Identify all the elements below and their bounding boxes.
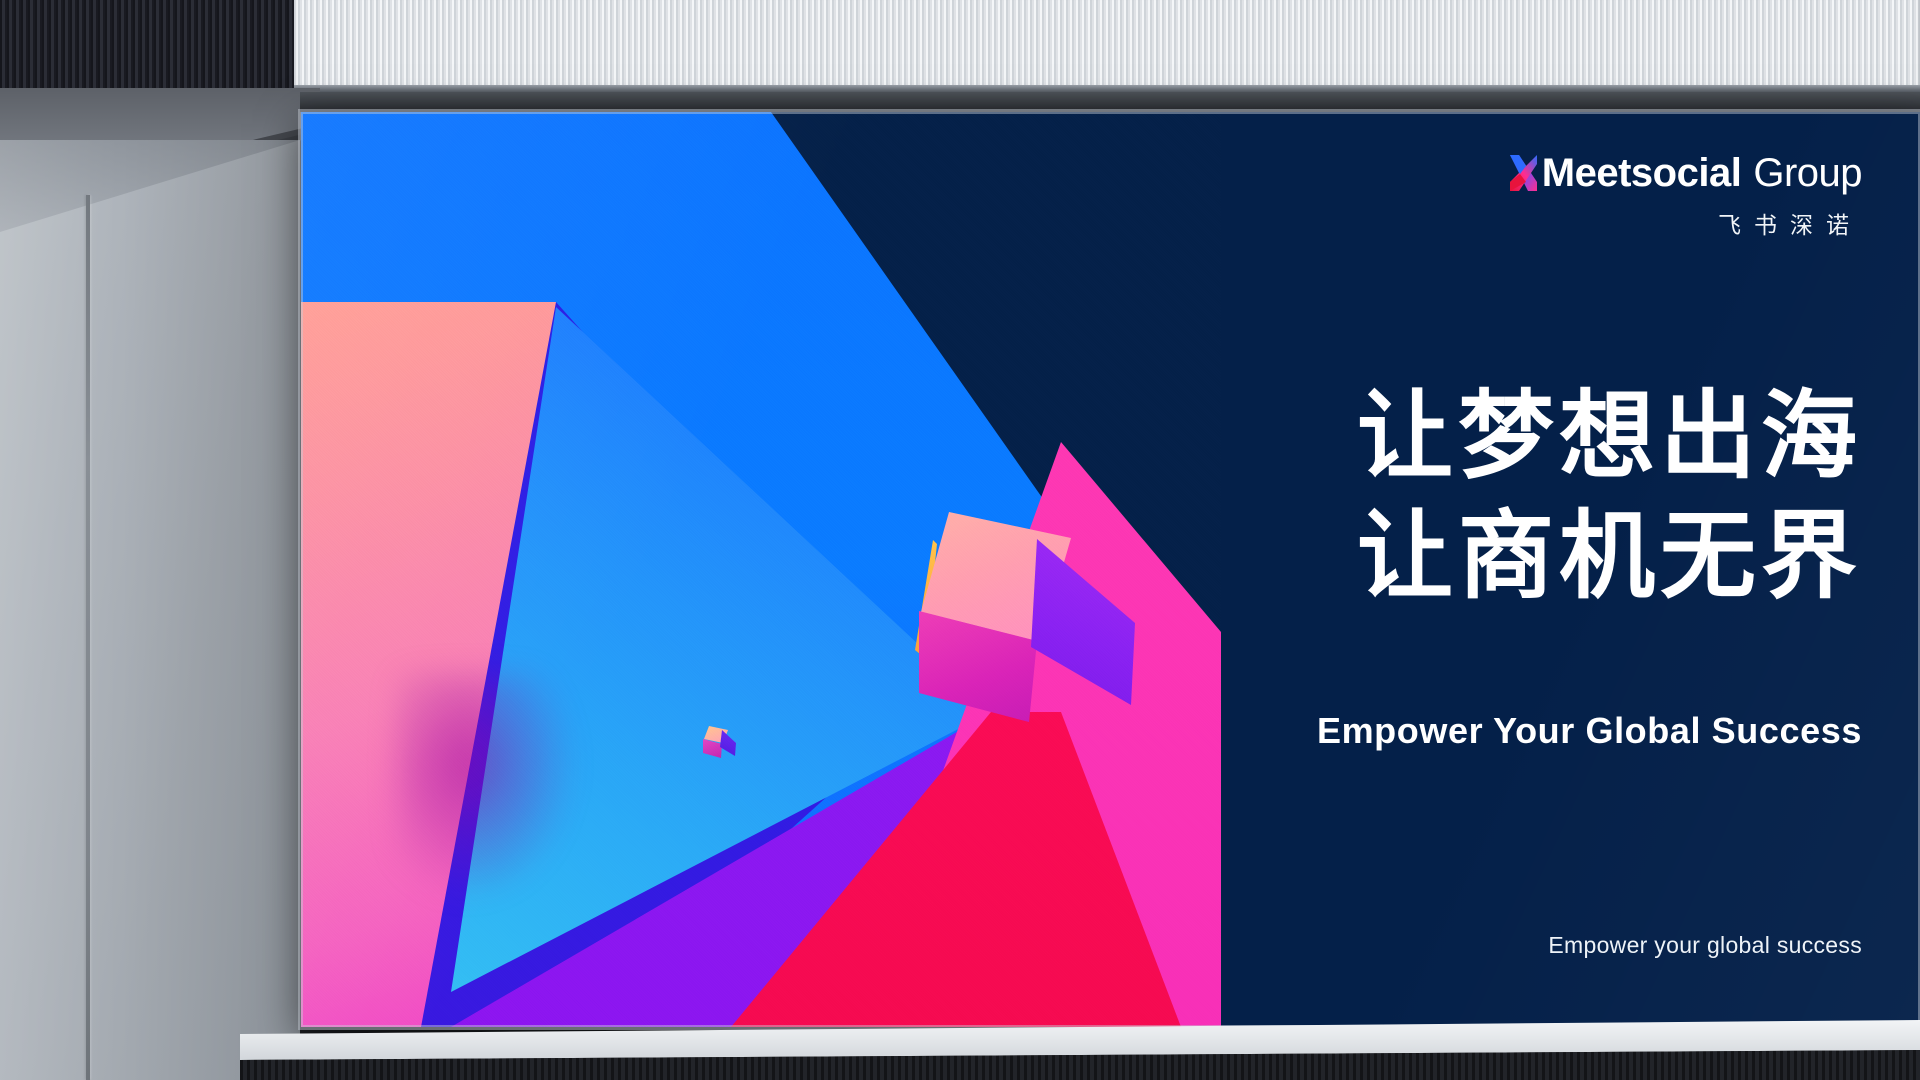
ribbed-dark-ceiling-panel [0, 0, 294, 92]
headline-line-1: 让梦想出海 [1357, 388, 1862, 486]
brand-name-primary: Meetsocial [1542, 151, 1742, 195]
headline-line-2: 让商机无界 [1357, 508, 1862, 606]
billboard-scene: MeetsocialGroup 飞书深诺 让梦想出海 让商机无界 Empower… [0, 0, 1920, 1080]
grey-interior-wall [0, 140, 300, 1080]
billboard-content-panel: MeetsocialGroup 飞书深诺 让梦想出海 让商机无界 Empower… [1061, 112, 1920, 1027]
ribbed-light-ceiling-panel [294, 0, 1920, 92]
footer-tagline: Empower your global success [1548, 932, 1862, 959]
wall-seam-line [86, 195, 90, 1080]
billboard-screen: MeetsocialGroup 飞书深诺 让梦想出海 让商机无界 Empower… [301, 112, 1920, 1027]
meetsocial-x-mark-icon [1506, 152, 1540, 194]
subheadline: Empower Your Global Success [1317, 710, 1862, 752]
headline-block: 让梦想出海 让商机无界 [1357, 388, 1862, 606]
brand-name-chinese: 飞书深诺 [1506, 206, 1862, 240]
screen-top-gap [300, 92, 1920, 112]
brand-logo-block: MeetsocialGroup 飞书深诺 [1506, 152, 1862, 240]
brand-wordmark: MeetsocialGroup [1542, 153, 1862, 193]
brand-logo-row: MeetsocialGroup [1506, 152, 1862, 194]
brand-name-secondary: Group [1753, 151, 1862, 195]
